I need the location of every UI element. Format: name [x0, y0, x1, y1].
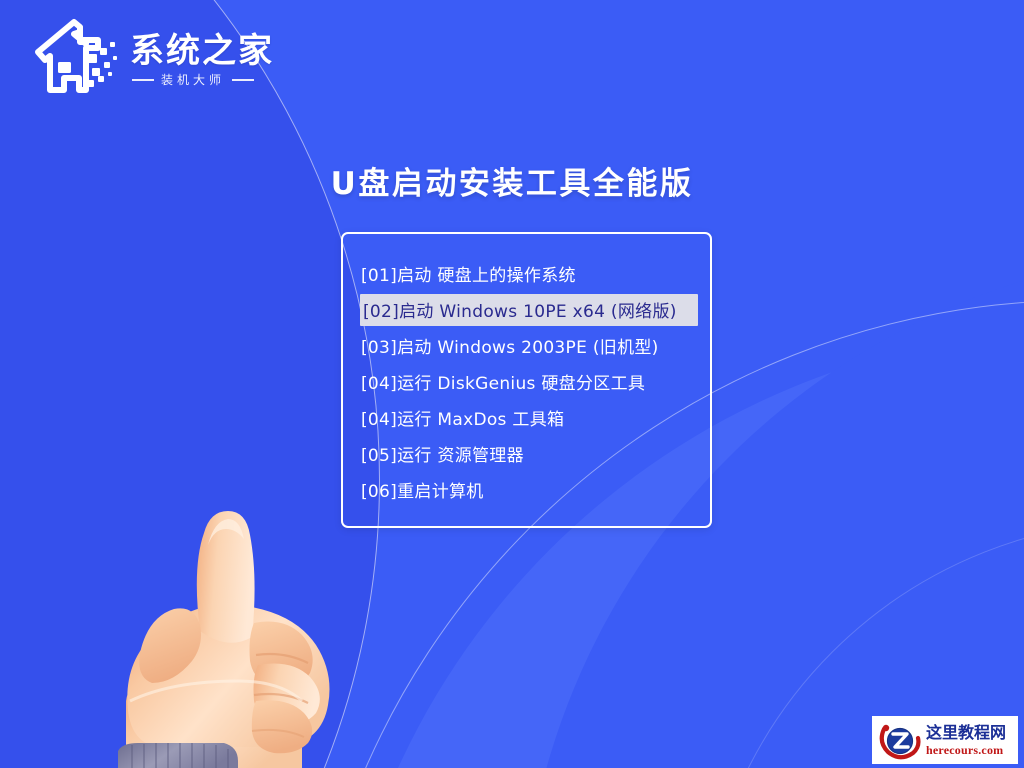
tagline-dash-right — [232, 79, 254, 81]
boot-menu-item[interactable]: [04]运行 DiskGenius 硬盘分区工具 — [343, 364, 710, 400]
boot-menu-item-label: [04]运行 MaxDos 工具箱 — [360, 402, 570, 434]
boot-menu-item[interactable]: [01]启动 硬盘上的操作系统 — [343, 256, 710, 292]
z-orbit-icon — [878, 720, 922, 760]
boot-menu-item-label: [01]启动 硬盘上的操作系统 — [360, 258, 582, 290]
brand-wordmark: 系统之家 装机大师 — [130, 28, 274, 89]
tagline-dash-left — [132, 79, 154, 81]
boot-menu-item-label: [06]重启计算机 — [360, 474, 490, 506]
page-title: U盘启动安装工具全能版 — [0, 158, 1024, 203]
boot-menu-list: [01]启动 硬盘上的操作系统 [02]启动 Windows 10PE x64 … — [341, 232, 712, 528]
boot-menu-item-label: [05]运行 资源管理器 — [360, 438, 530, 470]
brand-tagline-text: 装机大师 — [161, 71, 225, 88]
watermark-site-name: 这里教程网 — [926, 725, 1006, 741]
boot-menu-screen: 系统之家 装机大师 U盘启动安装工具全能版 [01]启动 硬盘上的操作系统 [0… — [0, 0, 1024, 768]
boot-menu-item[interactable]: [05]运行 资源管理器 — [343, 436, 710, 472]
brand-logo: 系统之家 装机大师 — [34, 18, 274, 98]
boot-menu-item[interactable]: [03]启动 Windows 2003PE (旧机型) — [343, 328, 710, 364]
boot-menu-item-label: [03]启动 Windows 2003PE (旧机型) — [360, 330, 665, 362]
boot-menu-item[interactable]: [04]运行 MaxDos 工具箱 — [343, 400, 710, 436]
pixel-house-icon — [34, 18, 118, 98]
brand-name: 系统之家 — [130, 34, 274, 70]
watermark: 这里教程网 herecours.com — [872, 716, 1018, 764]
sleeve-cuff — [118, 743, 238, 768]
boot-menu-item-label: [04]运行 DiskGenius 硬盘分区工具 — [360, 366, 651, 398]
watermark-site-url: herecours.com — [926, 744, 1006, 756]
brand-tagline: 装机大师 — [130, 71, 274, 88]
boot-menu-item-label: [02]启动 Windows 10PE x64 (网络版) — [360, 294, 698, 326]
boot-menu-item[interactable]: [06]重启计算机 — [343, 472, 710, 508]
pointing-hand-icon — [88, 505, 388, 768]
watermark-text: 这里教程网 herecours.com — [926, 725, 1006, 756]
boot-menu-item-selected[interactable]: [02]启动 Windows 10PE x64 (网络版) — [343, 292, 710, 328]
